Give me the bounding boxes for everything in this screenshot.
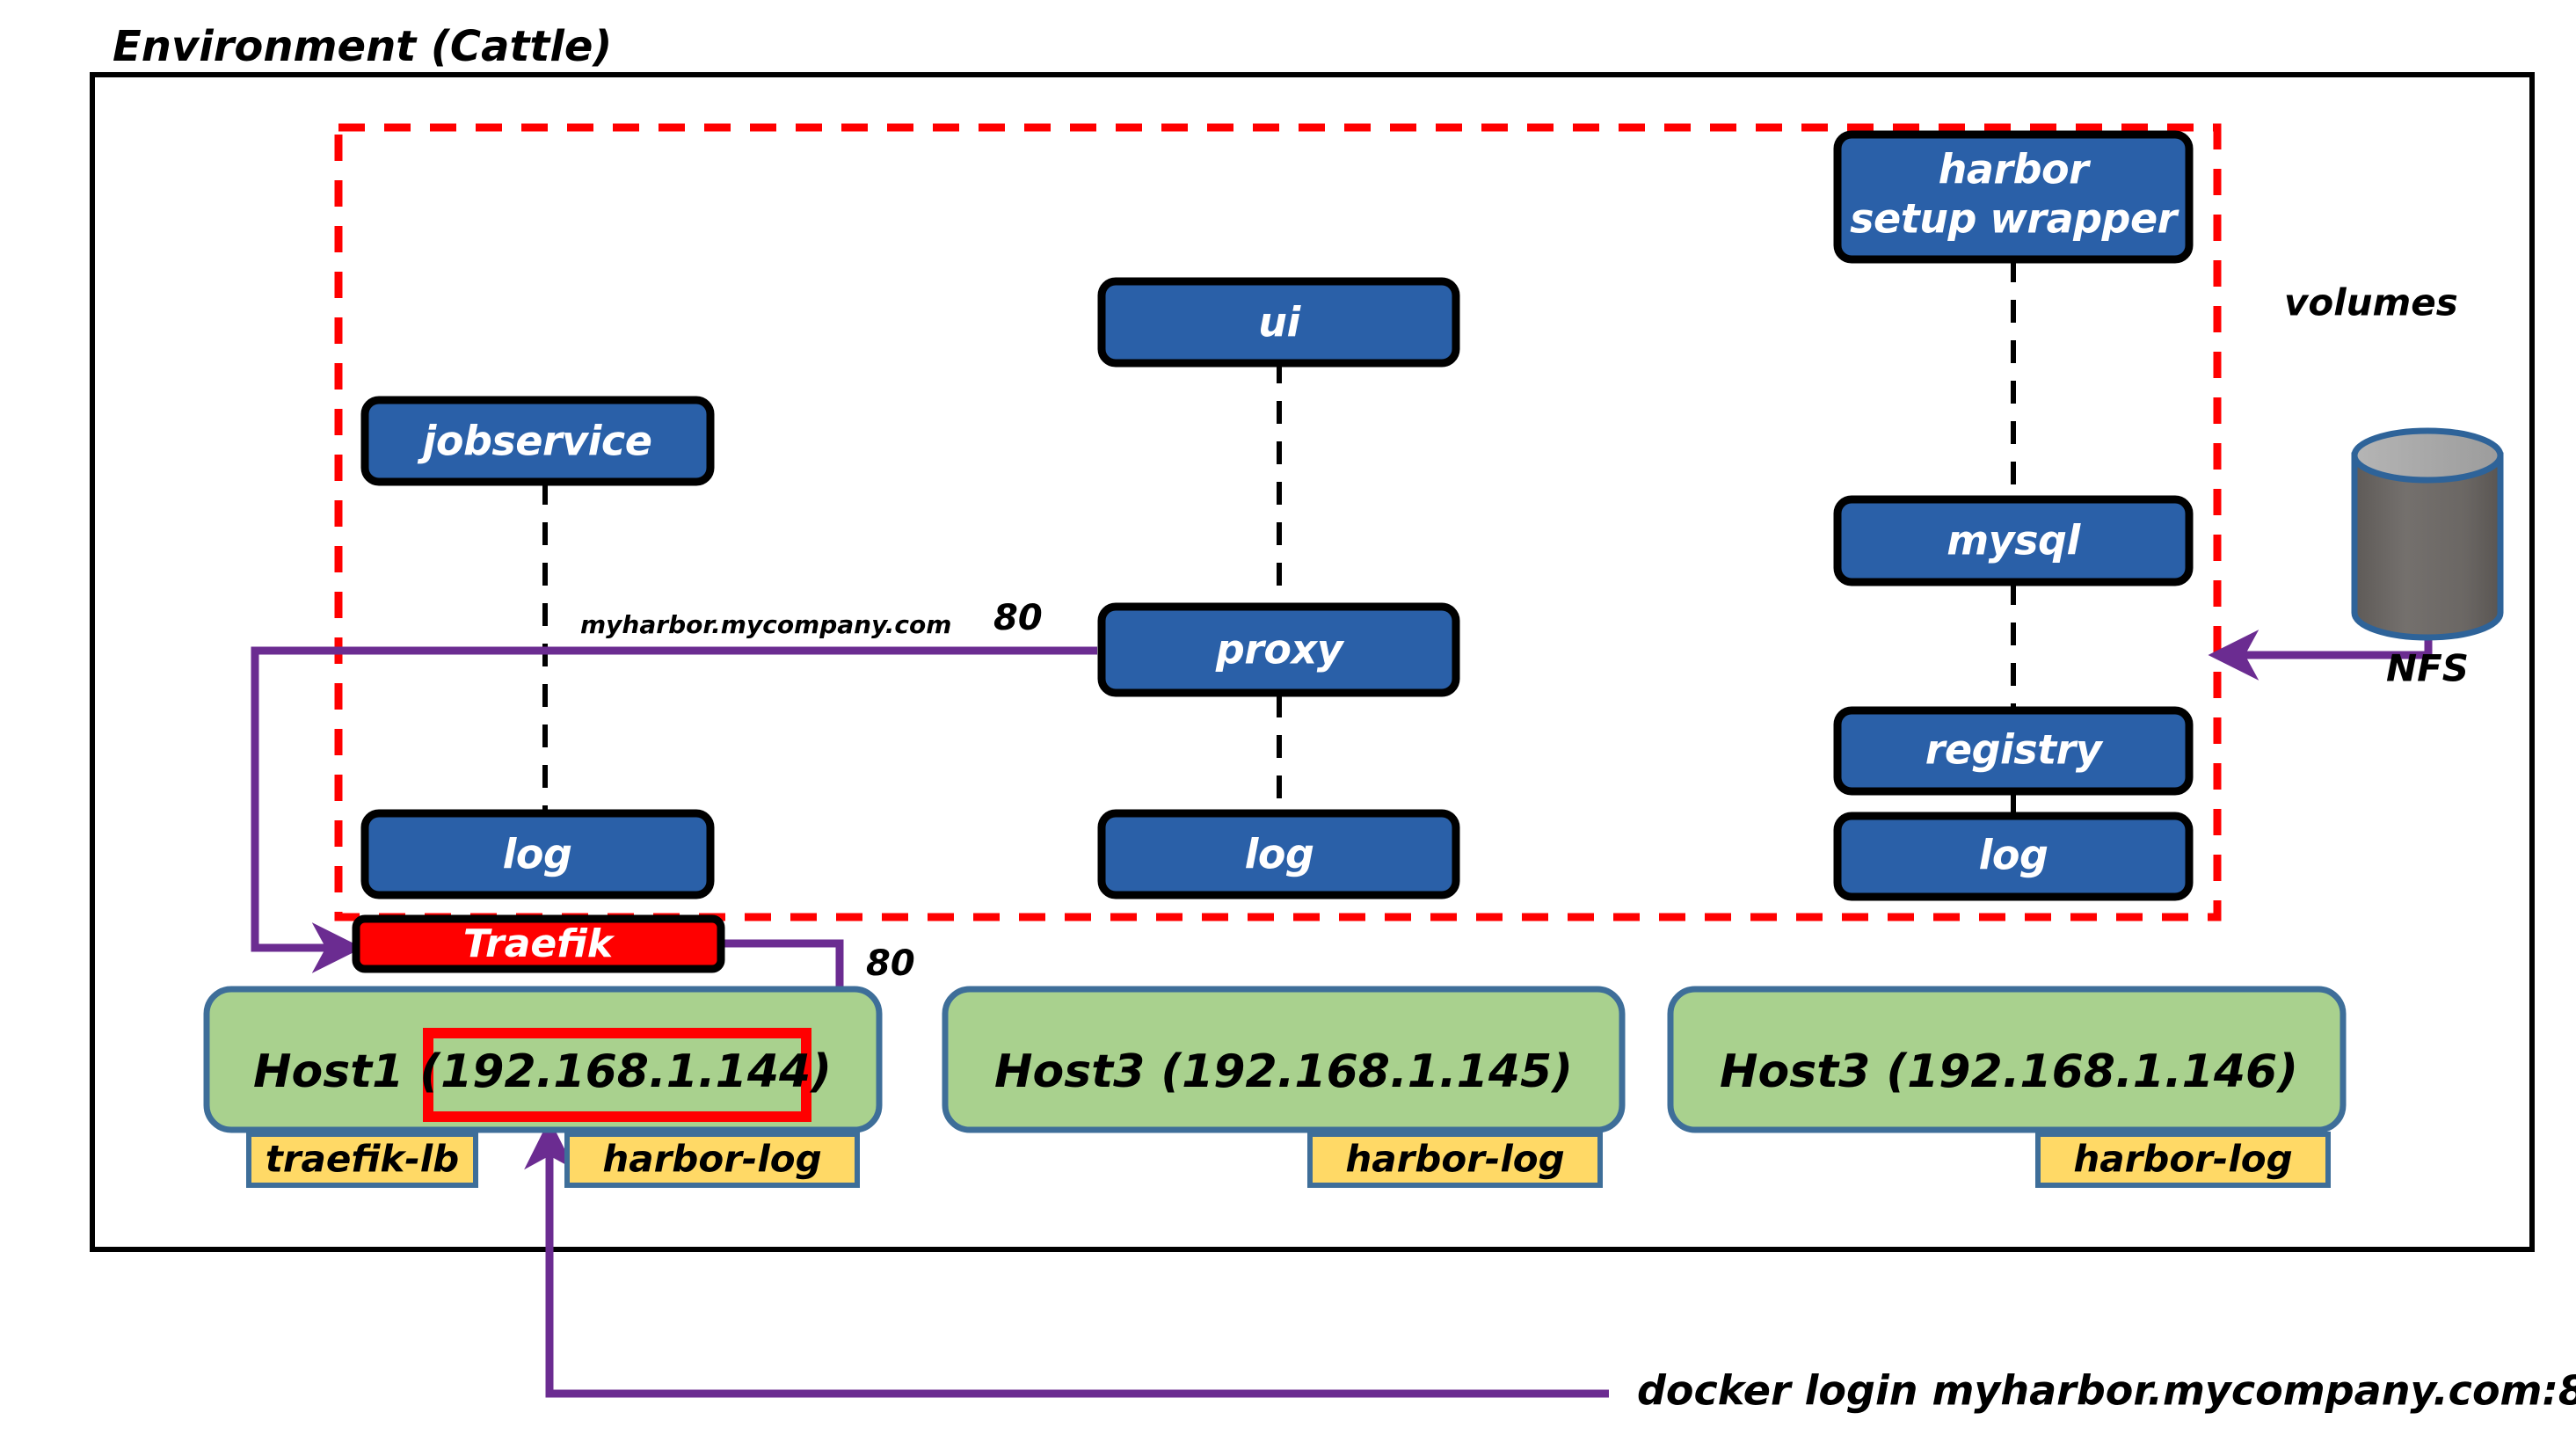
docker-login-command: docker login myharbor.mycompany.com:80 [1637,1367,2576,1415]
service-node-proxy[interactable]: proxy [1102,607,1456,693]
service-node-log-middle[interactable]: log [1102,813,1456,895]
service-node-log-left[interactable]: log [365,813,710,895]
host-card-host1[interactable]: Host1 (192.168.1.144) [207,989,879,1130]
tag-label: harbor-log [602,1138,821,1181]
service-node-setup-wrapper[interactable]: harbor setup wrapper [1837,135,2189,259]
service-label: log [1245,831,1314,878]
service-label-line1: harbor [1939,146,2092,193]
host-label: Host3 (192.168.1.146) [1720,1045,2298,1098]
host-card-host2[interactable]: Host3 (192.168.1.145) [945,989,1622,1130]
service-node-mysql[interactable]: mysql [1837,499,2189,582]
service-label-line2: setup wrapper [1850,195,2180,243]
port-in-label: 80 [993,598,1043,638]
host-label: Host3 (192.168.1.145) [994,1045,1573,1098]
service-node-jobservice[interactable]: jobservice [365,400,710,482]
service-label: jobservice [418,418,652,465]
service-node-registry[interactable]: registry [1837,710,2189,791]
diagram-canvas: Environment (Cattle) myharbor.mycompany.… [0,0,2576,1449]
service-label: ui [1258,299,1301,346]
service-label: log [1979,832,2048,879]
host-label: Host1 (192.168.1.144) [253,1045,832,1098]
architecture-diagram: Environment (Cattle) myharbor.mycompany.… [0,0,2576,1449]
tag-label: traefik-lb [266,1138,460,1181]
nfs-label: NFS [2386,647,2469,690]
service-label: proxy [1215,626,1345,674]
service-label: log [503,831,572,878]
volumes-edge-label: volumes [2284,281,2458,324]
host-card-host3[interactable]: Host3 (192.168.1.146) [1670,989,2343,1130]
page-title: Environment (Cattle) [113,22,612,71]
host-tag-harbor-log-host1[interactable]: harbor-log [567,1134,857,1185]
cylinder-top [2354,431,2500,480]
traefik-load-balancer[interactable]: Traefik [356,919,721,969]
connector-proxy-to-traefik [255,651,1097,948]
service-node-log-right[interactable]: log [1837,816,2189,897]
service-node-ui[interactable]: ui [1102,281,1456,363]
service-label: mysql [1947,517,2081,564]
host-tag-harbor-log-host3[interactable]: harbor-log [2038,1134,2328,1185]
hostname-edge-label: myharbor.mycompany.com [580,610,951,639]
host-tag-harbor-log-host2[interactable]: harbor-log [1310,1134,1600,1185]
service-label: registry [1925,726,2104,774]
port-out-label: 80 [866,943,915,984]
host-tag-traefik-lb[interactable]: traefik-lb [249,1134,476,1185]
nfs-storage-cylinder[interactable]: NFS [2354,431,2500,690]
tag-label: harbor-log [2073,1138,2292,1181]
tag-label: harbor-log [1345,1138,1564,1181]
traefik-label: Traefik [463,921,615,966]
